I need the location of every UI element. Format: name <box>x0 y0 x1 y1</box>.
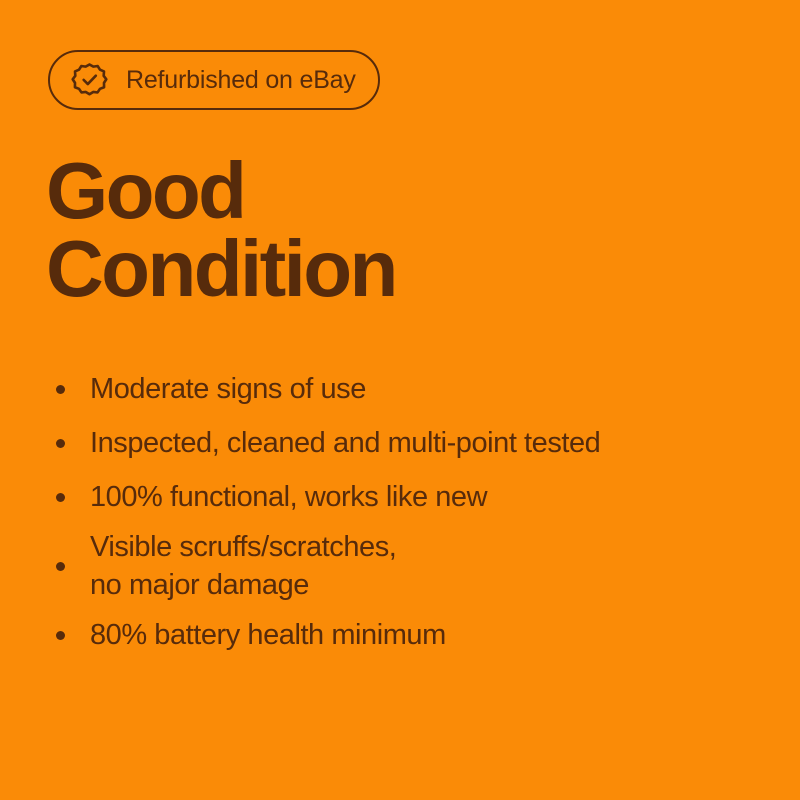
bullet-icon <box>56 562 65 571</box>
bullet-icon <box>56 493 65 502</box>
list-item-label: Visible scruffs/scratches, no major dama… <box>90 528 396 604</box>
list-item: Inspected, cleaned and multi-point teste… <box>56 416 770 470</box>
bullet-icon <box>56 439 65 448</box>
refurbished-badge-pill: Refurbished on eBay <box>48 50 380 110</box>
list-item: Visible scruffs/scratches, no major dama… <box>56 524 770 608</box>
page-title-line-1: Good <box>46 152 396 230</box>
list-item-label: Inspected, cleaned and multi-point teste… <box>90 424 600 462</box>
list-item: 100% functional, works like new <box>56 470 770 524</box>
list-item-label: Moderate signs of use <box>90 370 366 408</box>
refurbished-condition-card: Refurbished on eBay Good Condition Moder… <box>0 0 800 800</box>
list-item-label: 100% functional, works like new <box>90 478 487 516</box>
verified-rosette-check-icon <box>71 62 108 99</box>
page-title: Good Condition <box>46 152 396 308</box>
list-item-label: 80% battery health minimum <box>90 616 446 654</box>
bullet-icon <box>56 385 65 394</box>
bullet-icon <box>56 631 65 640</box>
page-title-line-2: Condition <box>46 230 396 308</box>
list-item: Moderate signs of use <box>56 362 770 416</box>
condition-feature-list: Moderate signs of use Inspected, cleaned… <box>56 362 770 662</box>
refurbished-badge-label: Refurbished on eBay <box>126 68 356 93</box>
list-item: 80% battery health minimum <box>56 608 770 662</box>
